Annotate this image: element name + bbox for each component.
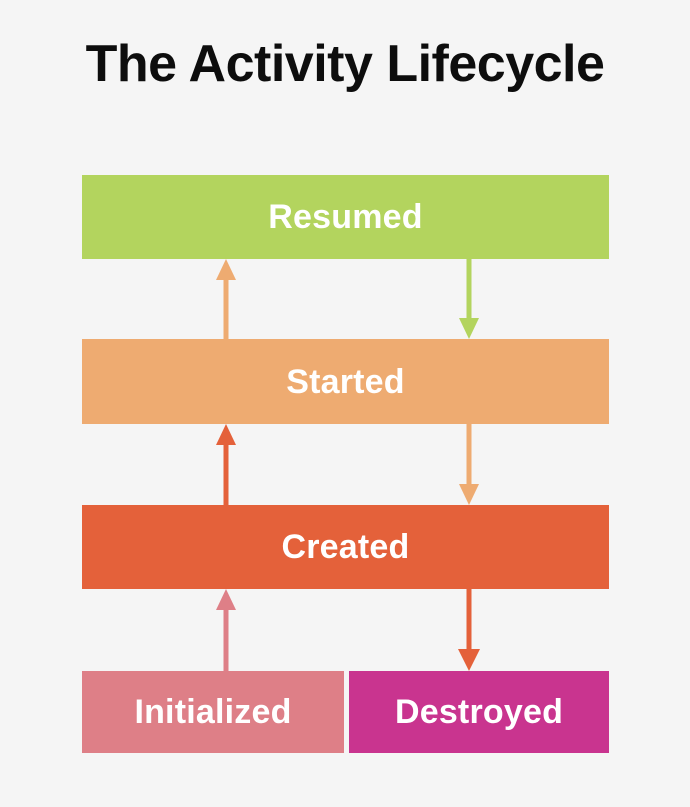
arrow-started-to-resumed (216, 259, 236, 339)
state-box-initialized[interactable]: Initialized (82, 671, 344, 753)
state-box-created[interactable]: Created (82, 505, 609, 589)
page-title: The Activity Lifecycle (0, 28, 690, 100)
state-label-started: Started (286, 365, 405, 399)
arrow-created-to-started (216, 424, 236, 505)
state-box-started[interactable]: Started (82, 339, 609, 424)
state-label-initialized: Initialized (134, 695, 291, 729)
state-label-created: Created (281, 530, 409, 564)
state-label-destroyed: Destroyed (395, 695, 563, 729)
arrow-created-to-destroyed (458, 589, 480, 671)
state-box-resumed[interactable]: Resumed (82, 175, 609, 259)
state-box-destroyed[interactable]: Destroyed (349, 671, 609, 753)
arrow-resumed-to-started (459, 259, 479, 339)
diagram-canvas: The Activity Lifecycle (0, 0, 690, 807)
arrow-started-to-created (459, 424, 479, 505)
arrow-initialized-to-created (216, 589, 236, 671)
state-label-resumed: Resumed (268, 200, 422, 234)
